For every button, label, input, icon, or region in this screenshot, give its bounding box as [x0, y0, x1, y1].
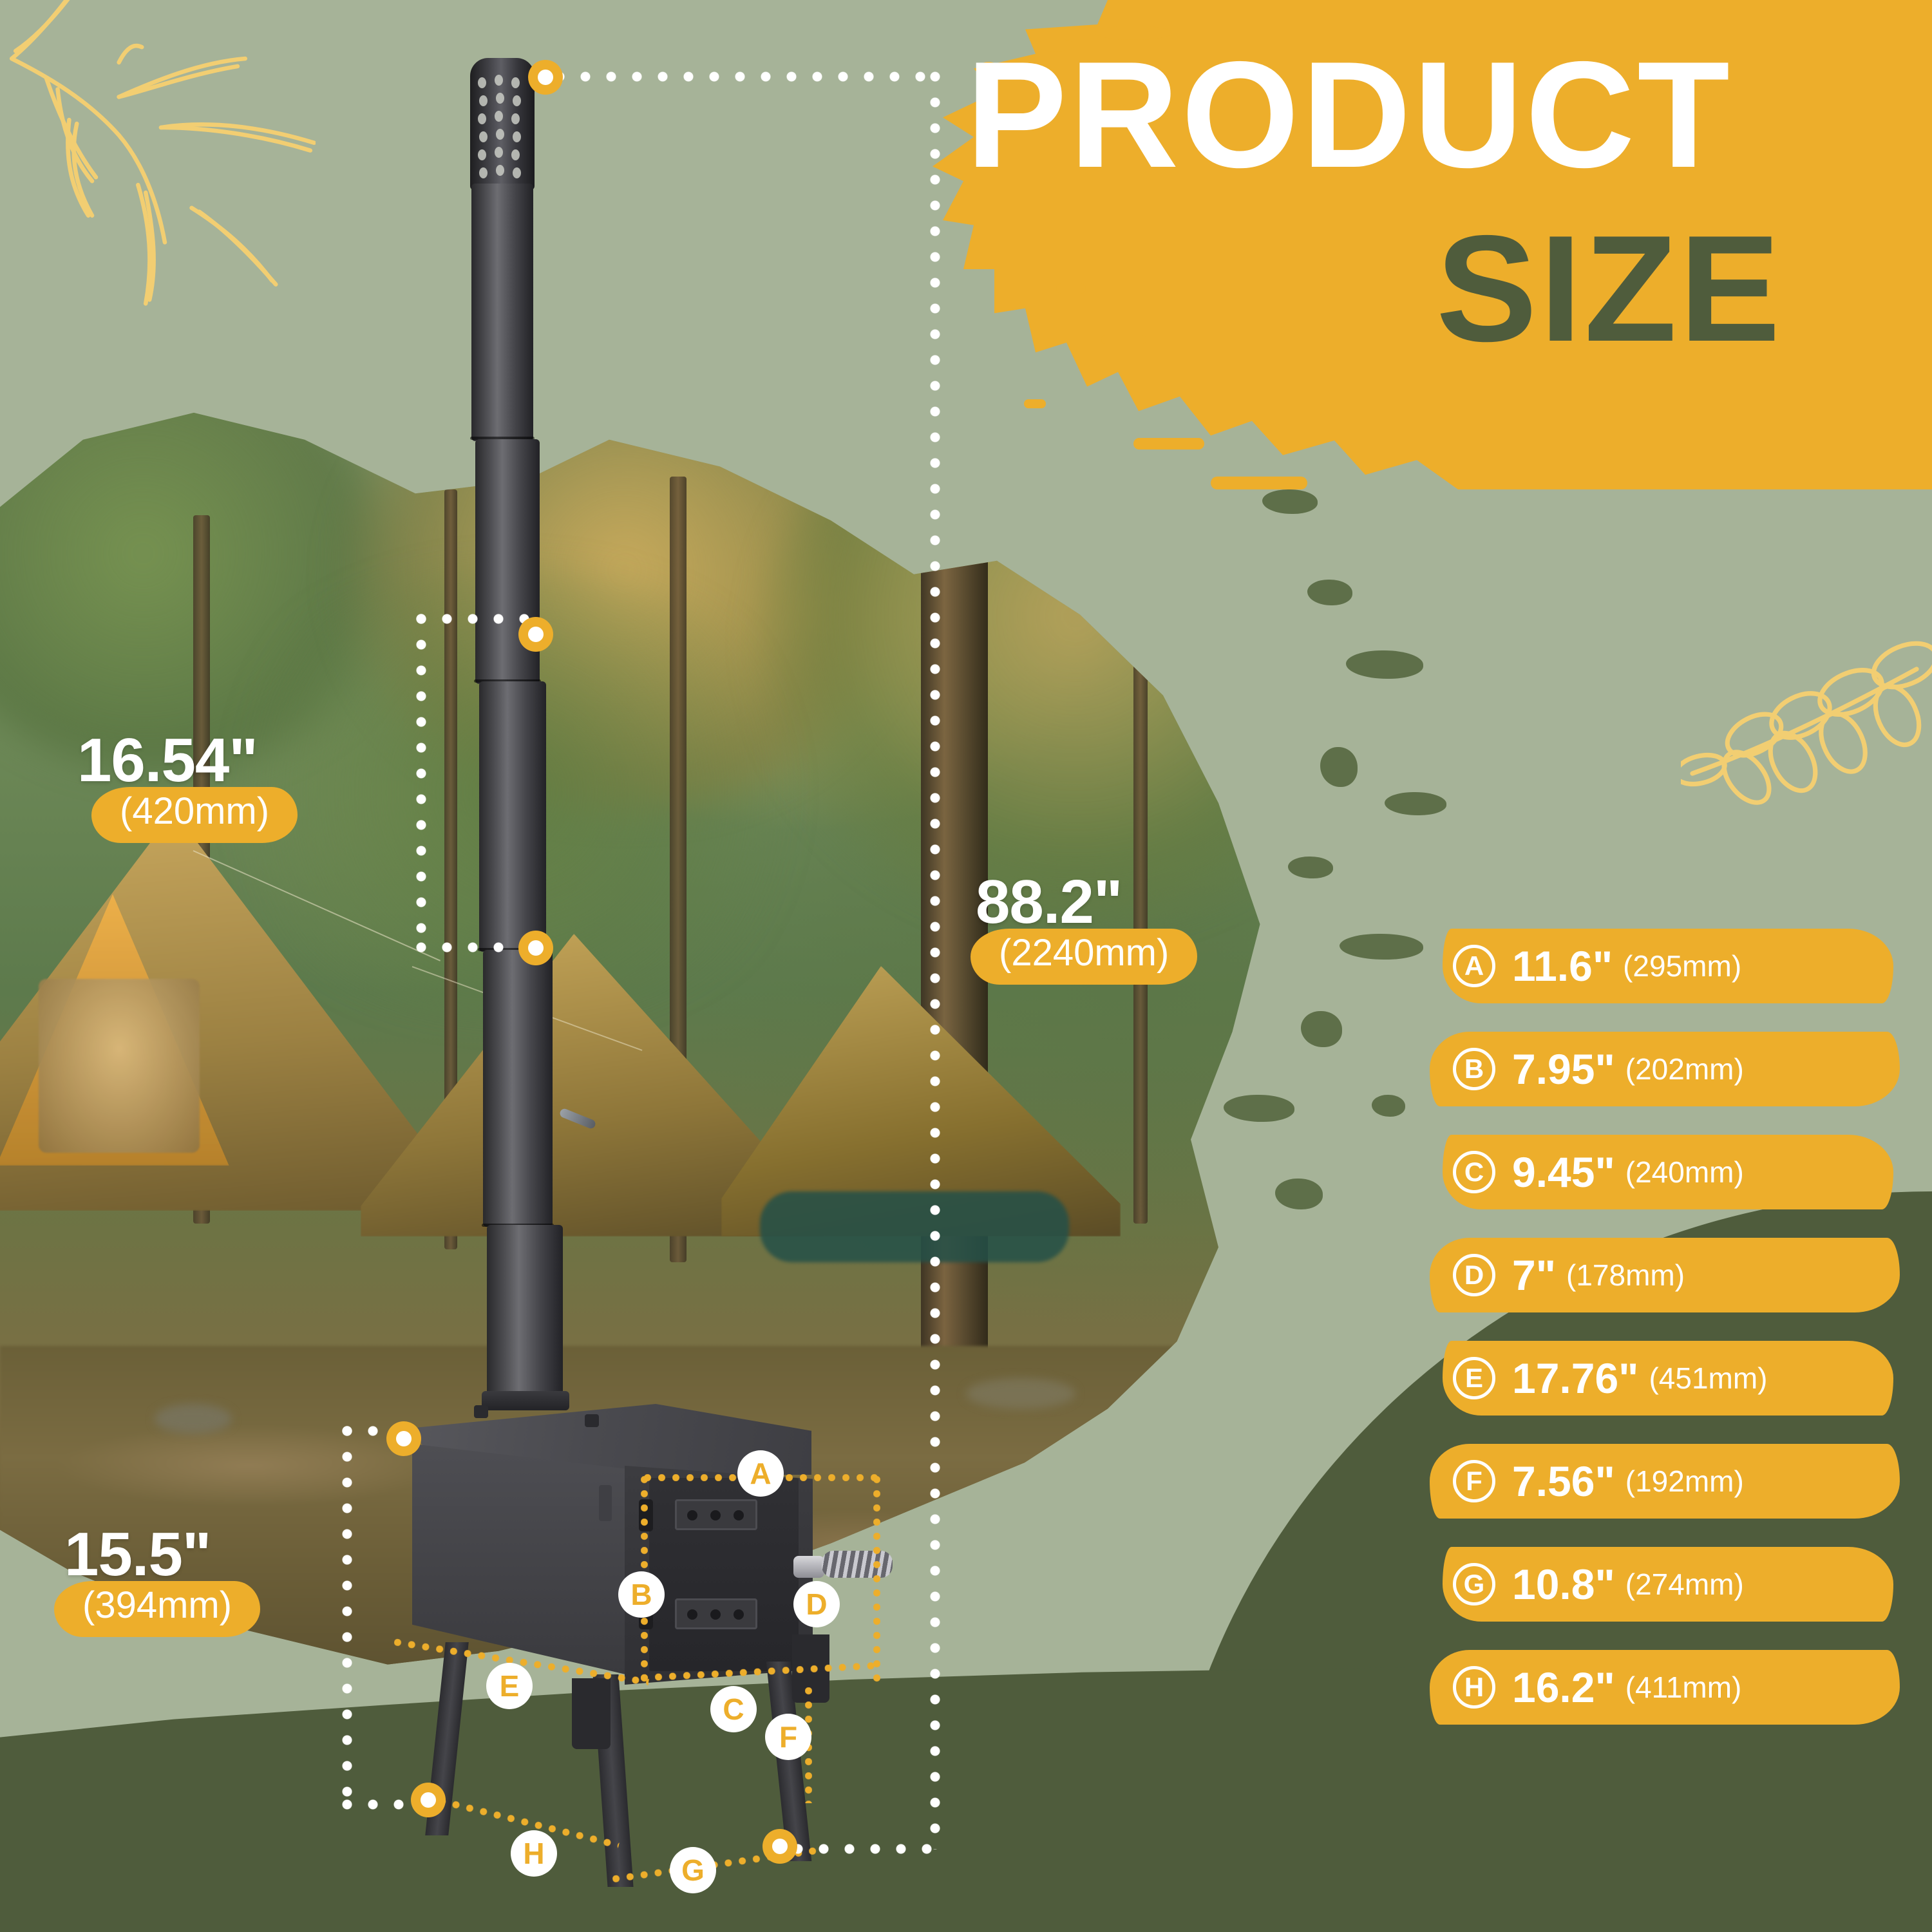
door-air-vent[interactable]	[675, 1598, 757, 1629]
anchor-node-firebox-top	[386, 1421, 421, 1456]
callout-inch-value: 88.2"	[976, 873, 1180, 931]
dim-letter-H: H	[1453, 1666, 1495, 1709]
dimension-row-C: C 9.45" (240mm)	[1443, 1121, 1919, 1224]
product-size-infographic: PRODUCT SIZE	[0, 0, 1932, 1932]
dim-letter-E: E	[1453, 1357, 1495, 1399]
ground-rock	[155, 1404, 232, 1434]
dim-inch-H: 16.2"	[1512, 1663, 1615, 1712]
dim-mm-H: (411mm)	[1625, 1670, 1742, 1705]
firebox-side-panel	[412, 1444, 631, 1676]
chimney-collar	[482, 1391, 569, 1410]
page-title-size: SIZE	[1436, 213, 1900, 364]
damper-handle	[558, 1108, 596, 1130]
dim-mm-G: (274mm)	[1625, 1567, 1744, 1602]
callout-chimney-section: 16.54" (420mm)	[77, 731, 281, 839]
dim-inch-C: 9.45"	[1512, 1148, 1615, 1197]
splash-fleck	[1133, 438, 1204, 450]
photo-edge-fleck	[1275, 1179, 1323, 1209]
dimension-row-E: E 17.76" (451mm)	[1443, 1327, 1919, 1430]
dim-letter-D: D	[1453, 1254, 1495, 1296]
dimension-row-A: A 11.6" (295mm)	[1443, 914, 1919, 1018]
dim-letter-F: F	[1453, 1460, 1495, 1502]
photo-edge-fleck	[1320, 747, 1358, 787]
callout-inch-value: 16.54"	[77, 731, 281, 790]
photo-edge-fleck	[1301, 1011, 1342, 1047]
product-badge-H: H	[511, 1830, 557, 1877]
dimension-row-G: G 10.8" (274mm)	[1443, 1533, 1919, 1636]
chimney-pipe-base	[487, 1225, 563, 1399]
dim-inch-A: 11.6"	[1512, 942, 1613, 990]
dim-inch-E: 17.76"	[1512, 1354, 1638, 1403]
anchor-node-leg-bottom-right	[762, 1829, 797, 1864]
tent-interior	[39, 979, 200, 1153]
chimney-pipe-segment	[471, 184, 533, 441]
dim-inch-G: 10.8"	[1512, 1560, 1615, 1609]
anchor-node-chimney-top	[528, 60, 563, 95]
product-badge-C: C	[710, 1686, 757, 1732]
dimension-row-D: D 7" (178mm)	[1443, 1224, 1919, 1327]
callout-stove-height: 15.5" (394mm)	[64, 1525, 243, 1633]
dim-letter-G: G	[1453, 1563, 1495, 1605]
anchor-node-pipe-upper	[518, 617, 553, 652]
dim-inch-D: 7"	[1512, 1251, 1556, 1300]
top-screw	[474, 1405, 488, 1418]
anchor-node-leg-bottom-left	[411, 1783, 446, 1817]
product-badge-G: G	[670, 1847, 716, 1893]
photo-edge-fleck	[1288, 857, 1333, 878]
dimension-row-B: B 7.95" (202mm)	[1443, 1018, 1919, 1121]
dimension-list: A 11.6" (295mm) B 7.95" (202mm) C 9.45" …	[1443, 914, 1919, 1739]
dim-line-right-face	[873, 1476, 880, 1682]
callout-total-height: 88.2" (2240mm)	[976, 873, 1180, 981]
spark-arrestor	[470, 58, 535, 190]
product-badge-E: E	[486, 1663, 533, 1709]
spring-handle[interactable]	[822, 1551, 893, 1578]
dim-inch-F: 7.56"	[1512, 1457, 1615, 1506]
product-badge-F: F	[765, 1714, 811, 1760]
callout-mm-value: (420mm)	[108, 786, 281, 839]
dim-letter-C: C	[1453, 1151, 1495, 1193]
dimension-row-H: H 16.2" (411mm)	[1443, 1636, 1919, 1739]
product-badge-D: D	[793, 1581, 840, 1627]
top-screw	[585, 1414, 599, 1427]
side-handle[interactable]	[599, 1485, 612, 1521]
dim-mm-C: (240mm)	[1625, 1155, 1744, 1189]
door-air-vent[interactable]	[675, 1499, 757, 1530]
door-latch-knob[interactable]	[793, 1556, 824, 1578]
photo-edge-fleck	[1307, 580, 1352, 605]
splash-fleck	[1211, 477, 1307, 489]
ash-bracket	[572, 1678, 611, 1749]
callout-mm-value: (394mm)	[71, 1580, 243, 1633]
dim-letter-A: A	[1453, 945, 1495, 987]
anchor-node-pipe-lower	[518, 931, 553, 965]
chimney-pipe-segment	[479, 681, 546, 952]
callout-inch-value: 15.5"	[64, 1525, 243, 1584]
dim-mm-F: (192mm)	[1625, 1464, 1744, 1499]
callout-mm-value: (2240mm)	[987, 927, 1180, 981]
page-title-product: PRODUCT	[966, 39, 1900, 190]
dim-mm-E: (451mm)	[1649, 1361, 1767, 1396]
splash-fleck	[1101, 335, 1146, 344]
dim-mm-D: (178mm)	[1566, 1258, 1685, 1293]
product-badge-B: B	[618, 1571, 665, 1618]
product-badge-A: A	[737, 1450, 784, 1497]
dim-mm-A: (295mm)	[1623, 949, 1741, 983]
dim-inch-B: 7.95"	[1512, 1045, 1615, 1094]
dim-mm-B: (202mm)	[1625, 1052, 1744, 1086]
dimension-row-F: F 7.56" (192mm)	[1443, 1430, 1919, 1533]
chimney-pipe-segment	[483, 950, 553, 1227]
dim-letter-B: B	[1453, 1048, 1495, 1090]
photo-edge-fleck	[1372, 1095, 1405, 1117]
